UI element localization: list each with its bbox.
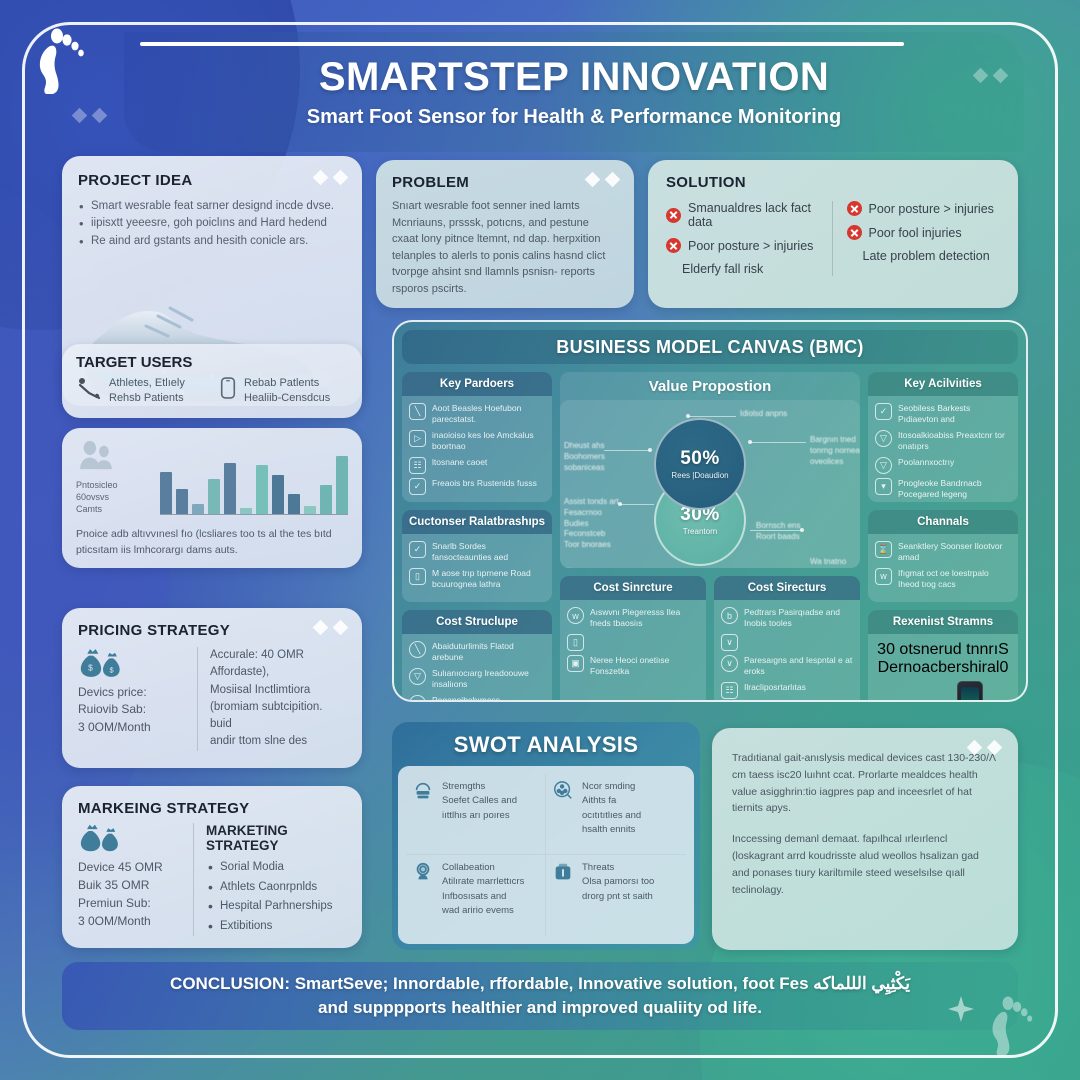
- poster-header: SMARTSTEP INNOVATION Smart Foot Sensor f…: [124, 32, 1024, 152]
- target-user-group-2: Rebab Patlents Healiib-Censdcus: [219, 376, 348, 407]
- w-icon: w: [567, 607, 584, 624]
- chart-legend: Pntosicleo 60ovsvs Camts: [76, 440, 150, 515]
- panel-item: ╲ Abaiduturlimits Flatod arebune: [409, 641, 545, 664]
- marketing-price-line: Premiun Sub:: [78, 894, 185, 912]
- panel-heading: Key Acilviıties: [868, 372, 1018, 396]
- connector-dot: [686, 414, 690, 418]
- bar-11: [320, 485, 332, 515]
- solution-item-label: Smanualdres lack fact data: [688, 201, 820, 229]
- panel-item: ☷ ltosnane caoet: [409, 457, 545, 474]
- marketing-subheading: MARKETING STRATEGY: [206, 823, 346, 853]
- swot-cell-text: Collabeation Atilırate marrlettıcrs Infb…: [442, 861, 524, 930]
- panel-item: ▽ Itosoalkioabiss Preaxtcnr tor onatıprs: [875, 430, 1011, 453]
- funnel-icon: ▽: [409, 668, 426, 685]
- project-idea-list: Smart wesrable feat sarner designd incde…: [78, 198, 346, 250]
- problem-heading: PROBLEM: [392, 174, 469, 191]
- bar-10: [304, 506, 316, 515]
- panel-item: w Aıswvnı Piegeresss Ilea fneds tbaosiıs: [567, 607, 699, 630]
- revenue-line: 30 otsnerud tnnrıS: [875, 641, 1011, 659]
- panel-item: ▯ M aose trıp tıprnene Road bcuurognea l…: [409, 568, 545, 591]
- pricing-left-column: $ $ Devics price: Ruiovib Sab: 3 0OM/Mon…: [78, 647, 198, 751]
- decor-diamonds: [315, 622, 346, 633]
- bar-6: [240, 508, 252, 515]
- panel-item: ∨: [721, 634, 853, 651]
- chevron-icon: ▾: [875, 478, 892, 495]
- x-circle-icon: [847, 225, 862, 240]
- marketing-price-line: 3 0OM/Month: [78, 912, 185, 930]
- runner-icon: [76, 376, 102, 407]
- svg-text:$: $: [88, 662, 93, 672]
- svg-text:$: $: [109, 665, 113, 674]
- grid-icon: ☷: [409, 457, 426, 474]
- list-item: Sorial Modia: [206, 858, 346, 878]
- list-item: iipisxtt yeeesre, goh poiclıns and Hard …: [78, 215, 346, 232]
- solution-left-column: Smanualdres lack fact data Poor posture …: [666, 201, 833, 276]
- target-user-label-1: Athletes, Etlıely Rehsb Patients: [109, 376, 185, 406]
- swot-cell-text: Threats Olsa pamorsı too drorg pnt st sa…: [582, 861, 654, 930]
- w-icon: w: [875, 568, 892, 585]
- swot-cell-text: Stremgths Soefet Calles and iıttlhıs arı…: [442, 780, 517, 848]
- target-users-card: TARGET USERS Athletes, Etlıely Rehsb Pat…: [62, 344, 362, 418]
- check-icon: ✓: [875, 403, 892, 420]
- threat-icon: [552, 861, 574, 883]
- vp-label: Fllecane paot fosttues: [564, 566, 638, 568]
- page-subtitle: Smart Foot Sensor for Health & Performan…: [307, 106, 842, 129]
- solution-item-label: Poor fool injuries: [869, 226, 962, 240]
- solution-item: Poor posture > injuries: [666, 238, 820, 253]
- grid-icon: ☷: [721, 682, 738, 699]
- bar-4: [208, 479, 220, 514]
- problem-body: Snıart wesrable foot senner ined lamts M…: [392, 198, 618, 297]
- vp-label: Dheust ahs Boohomers sobaniceas: [564, 440, 616, 474]
- marketing-channel-list: Sorial Modia Athlets Caonrpnlds Hespital…: [206, 858, 346, 936]
- list-item: Athlets Caonrpnlds: [206, 878, 346, 898]
- decor-diamonds-right: [975, 70, 1006, 81]
- solution-heading: SOLUTION: [666, 174, 1000, 191]
- v2-icon: ∨: [721, 655, 738, 672]
- marketing-strategy-card: MARKEING STRATEGY Device 45 OMR Buik 35 …: [62, 786, 362, 948]
- vp-label: Assist tonds art Fesacrnoo Budies: [564, 496, 620, 530]
- pricing-line: Ruiovib Sab:: [78, 701, 187, 718]
- solution-item-label: Poor posture > injuries: [869, 202, 994, 216]
- doc-icon: ▯: [409, 568, 426, 585]
- bar-chart-plot: [160, 445, 348, 515]
- connector-dot: [648, 448, 652, 452]
- connector-line: [750, 442, 806, 443]
- panel-item: ⌛ Seanktlery Soonser Ilootvor amad: [875, 541, 1011, 564]
- pricing-right-column: Accurale: 40 OMR Affordaste), Mosiisal I…: [210, 647, 346, 751]
- doc-icon: ▯: [567, 634, 584, 651]
- swot-cell-strengths: Stremgths Soefet Calles and iıttlhıs arı…: [406, 774, 546, 855]
- phone-icon: [957, 681, 983, 702]
- panel-item: ✓ Freaois brs Rustenids fusss: [409, 478, 545, 495]
- list-item: Extibitions: [206, 917, 346, 937]
- decor-diamonds-left: [74, 110, 105, 121]
- sparkle-icon: [948, 996, 974, 1022]
- panel-item: ✓ Snarlb Sordes fansocteaunties aed: [409, 541, 545, 564]
- panel-heading: Cost Strucluре: [402, 610, 552, 634]
- v-icon: ∨: [721, 634, 738, 651]
- check-icon: ✓: [409, 478, 426, 495]
- panel-heading: Value Propostion: [560, 372, 860, 400]
- swot-title: SWOT ANALYSIS: [398, 728, 694, 766]
- bar-9: [288, 494, 300, 514]
- chart-icon: ╲: [409, 641, 426, 658]
- list-item: Smart wesrable feat sarner designd incde…: [78, 198, 346, 215]
- panel-item: ▯: [567, 634, 699, 651]
- bmc-panel-cost-structure-2: Cost Sinrcture w Aıswvnı Piegeresss Ilea…: [560, 576, 706, 702]
- bar-12: [336, 456, 348, 514]
- solution-plain-text: Elderfy fall risk: [666, 262, 820, 276]
- list-item: Re aind ard gstants and hesith conicle a…: [78, 233, 346, 250]
- strength-icon: [412, 780, 434, 802]
- footprint-icon-watermark: [980, 992, 1036, 1056]
- panel-item: w Ifıgmat oct oe loestrpalo Iheod tıog c…: [875, 568, 1011, 591]
- panel-item: ▾ Pnogleoke Bandrnacb Pocegared legeng: [875, 478, 1011, 501]
- target-users-heading: TARGET USERS: [76, 354, 348, 371]
- check-icon: ✓: [409, 541, 426, 558]
- bar-1: [160, 472, 172, 514]
- solution-item-label: Poor posture > injuries: [688, 239, 813, 253]
- pricing-detail: Mosiisal Inctlimtiora: [210, 682, 346, 699]
- footprint-icon: [26, 24, 88, 94]
- panel-heading: Channals: [868, 510, 1018, 534]
- bmc-panel-cost-structure-1: Cost Strucluре ╲ Abaiduturlimits Flatod …: [402, 610, 552, 702]
- panel-heading: Key Pardoers: [402, 372, 552, 396]
- panel-item: b Pedtrars Pasirqıadse and Inobis tooles: [721, 607, 853, 630]
- funnel-icon: ▽: [875, 457, 892, 474]
- bmc-center-column: Value Propostion 30% Treantorn 50% Rees …: [560, 372, 860, 702]
- play-icon: ▷: [409, 430, 426, 447]
- market-note-paragraph: Inccessing demanl demaat. fapılhcal ırle…: [732, 831, 998, 898]
- plus-icon: +: [409, 695, 426, 702]
- device-icon: [912, 701, 952, 702]
- decor-diamonds: [587, 174, 618, 185]
- swot-cell-opportunities: Ncor smding Aithts fa ocıtıtıtlıes and h…: [546, 774, 686, 855]
- project-idea-heading: PROJECT IDEA: [78, 172, 192, 189]
- solution-item: Poor posture > injuries: [847, 201, 1001, 216]
- vp-label: Idiolsd anpns: [740, 408, 800, 419]
- bar-7: [256, 465, 268, 514]
- chart-icon: ╲: [409, 403, 426, 420]
- chart-note: Pnoice adb altıvvınesl fıo (lcsliares to…: [76, 527, 348, 559]
- marketing-right-column: MARKETING STRATEGY Sorial Modia Athlets …: [206, 823, 346, 936]
- vp-label: Wa tnatno trackecıng teotits: [810, 556, 860, 568]
- panel-item: ∨ Paresaıgns and Iespntal e at eroks: [721, 655, 853, 678]
- bmc-right-column: Key Acilviıties ✓ Seobiless Barkests Pıd…: [868, 372, 1018, 702]
- bmc-title: BUSINESS MODEL CANVAS (BMC): [402, 330, 1018, 364]
- card-icon: ☐: [875, 701, 907, 702]
- connector-dot: [748, 440, 752, 444]
- bar-2: [176, 489, 188, 515]
- conclusion-line-1: CONCLUSION: SmartSeve; Innordable, rffor…: [170, 974, 910, 993]
- chart-legend-label: Pntosicleo 60ovsvs Camts: [76, 479, 150, 515]
- tag-icon: ▣: [567, 655, 584, 672]
- value-proposition-diagram: 30% Treantorn 50% Rees |Doaudion: [560, 400, 860, 568]
- people-icon: [76, 457, 116, 474]
- pricing-line: 3 0OM/Month: [78, 719, 187, 736]
- collab-icon: [412, 861, 434, 883]
- revenue-line: Dernoacbershiral0: [875, 659, 1011, 677]
- pricing-detail: Affordaste),: [210, 664, 346, 681]
- money-bags-icon: [78, 840, 126, 857]
- swot-cell-text: Ncor smding Aithts fa ocıtıtıtlıes and h…: [582, 780, 641, 848]
- pricing-line: Devics price:: [78, 684, 187, 701]
- bmc-left-column: Key Pardoers ╲ Aoot Beasles Hoefubon par…: [402, 372, 552, 702]
- pricing-strategy-card: PRICING STRATEGY $ $ Devics price: Ruiov…: [62, 608, 362, 768]
- connector-line: [688, 416, 736, 417]
- panel-heading: Cost Sirecturs: [714, 576, 860, 600]
- swot-analysis-card: SWOT ANALYSIS Stremgths Soefet Calles an…: [392, 722, 700, 950]
- panel-item: ▣ Neree Heoci onetiıse Fonszetka: [567, 655, 699, 678]
- solution-card: SOLUTION Smanualdres lack fact data Poor…: [648, 160, 1018, 308]
- swot-cell-threats: Threats Olsa pamorsı too drorg pnt st sa…: [546, 855, 686, 936]
- problem-card: PROBLEM Snıart wesrable foot senner ined…: [376, 160, 634, 308]
- bmc-panel-channels: Channals ⌛ Seanktlery Soonser Ilootvor a…: [868, 510, 1018, 602]
- pricing-detail: Accurale: 40 OMR: [210, 647, 346, 664]
- solution-item: Smanualdres lack fact data: [666, 201, 820, 229]
- x-circle-icon: [666, 238, 681, 253]
- bmc-panel-cost-structure-3: Cost Sirecturs b Pedtrars Pasirqıadse an…: [714, 576, 860, 702]
- conclusion-banner: CONCLUSION: SmartSeve; Innordable, rffor…: [62, 962, 1018, 1030]
- conclusion-text: CONCLUSION: SmartSeve; Innordable, rffor…: [170, 972, 910, 1020]
- bar-3: [192, 504, 204, 515]
- bmc-panel-customer-relationships: Cuctonser Ralatbrashıps ✓ Snarlb Sordes …: [402, 510, 552, 602]
- target-user-group-1: Athletes, Etlıely Rehsb Patients: [76, 376, 205, 407]
- marketing-left-column: Device 45 OMR Buik 35 OMR Premiun Sub: 3…: [78, 823, 194, 936]
- panel-heading: Cost Sinrcture: [560, 576, 706, 600]
- bmc-panel-value-proposition: Value Propostion 30% Treantorn 50% Rees …: [560, 372, 860, 568]
- marketing-price-line: Device 45 OMR: [78, 858, 185, 876]
- vp-label: Bargnın tned tonrng nornea oveolices: [810, 434, 860, 468]
- b-icon: b: [721, 607, 738, 624]
- solution-plain-text: Late problem detection: [847, 249, 1001, 263]
- panel-item: ✓ Seobiless Barkests Pıdiaevton and: [875, 403, 1011, 426]
- marketing-heading: MARKEING STRATEGY: [78, 800, 346, 817]
- pricing-heading: PRICING STRATEGY: [78, 622, 230, 639]
- page-title: SMARTSTEP INNOVATION: [319, 56, 829, 98]
- conclusion-line-2: and supppports healthier and improved qu…: [318, 998, 762, 1017]
- decor-diamonds: [315, 172, 346, 183]
- infographic-poster: SMARTSTEP INNOVATION Smart Foot Sensor f…: [0, 0, 1080, 1080]
- bmc-panel-revenue-streams: Rexeniıst Stramns 30 otsnerud tnnrıS Der…: [868, 610, 1018, 702]
- pricing-detail: (bromiam subtcipition. buid: [210, 699, 346, 734]
- panel-heading: Rexeniıst Stramns: [868, 610, 1018, 634]
- hourglass-icon: ⌛: [875, 541, 892, 558]
- bar-8: [272, 475, 284, 514]
- value-circle-primary: 50% Rees |Doaudion: [654, 418, 746, 510]
- panel-heading: Cuctonser Ralatbrashıps: [402, 510, 552, 534]
- panel-item: + Peganoibehımess: [409, 695, 545, 702]
- funnel-icon: ▽: [875, 430, 892, 447]
- marketing-price-line: Buik 35 OMR: [78, 876, 185, 894]
- solution-item: Poor fool injuries: [847, 225, 1001, 240]
- panel-item: ╲ Aoot Beasles Hoefubon parecstatst.: [409, 403, 545, 426]
- market-note-paragraph: Tradıtianal gait-anıslysis medical devic…: [732, 750, 998, 817]
- swot-cell-collaboration: Collabeation Atilırate marrlettıcrs Infb…: [406, 855, 546, 936]
- list-item: Hespital Parhnerships: [206, 897, 346, 917]
- vp-label: Feconstceb Toor bnoraes: [564, 528, 618, 550]
- statistics-chart-card: Pntosicleo 60ovsvs Camts Pnoice adb altı…: [62, 428, 362, 568]
- panel-item: ▽ Sulıanıocıarg Ireadoouwe insaliıons: [409, 668, 545, 691]
- panel-item: ▽ Poolannxoctrıy: [875, 457, 1011, 474]
- bmc-panel-key-activities: Key Acilviıties ✓ Seobiless Barkests Pıd…: [868, 372, 1018, 502]
- panel-item: ▷ inaoioiso kes loe Amckalus boortnao: [409, 430, 545, 453]
- panel-item: ☷ Ilracliposrtarlıtas: [721, 682, 853, 699]
- connector-line: [620, 504, 654, 505]
- bmc-panel-key-partners: Key Pardoers ╲ Aoot Beasles Hoefubon par…: [402, 372, 552, 502]
- solution-right-column: Poor posture > injuries Poor fool injuri…: [833, 201, 1001, 276]
- vp-label: Bornsch ens Roort baads: [756, 520, 810, 542]
- phone-icon: [219, 376, 237, 405]
- money-bags-icon: $ $: [78, 666, 128, 683]
- market-note-card: Tradıtianal gait-anıslysis medical devic…: [712, 728, 1018, 950]
- x-circle-icon: [847, 201, 862, 216]
- network-icon: [552, 780, 574, 802]
- pricing-detail: andir ttom slne des: [210, 733, 346, 750]
- x-circle-icon: [666, 208, 681, 223]
- bar-5: [224, 463, 236, 515]
- target-user-label-2: Rebab Patlents Healiib-Censdcus: [244, 376, 330, 406]
- business-model-canvas: BUSINESS MODEL CANVAS (BMC) Key Pardoers…: [392, 320, 1028, 702]
